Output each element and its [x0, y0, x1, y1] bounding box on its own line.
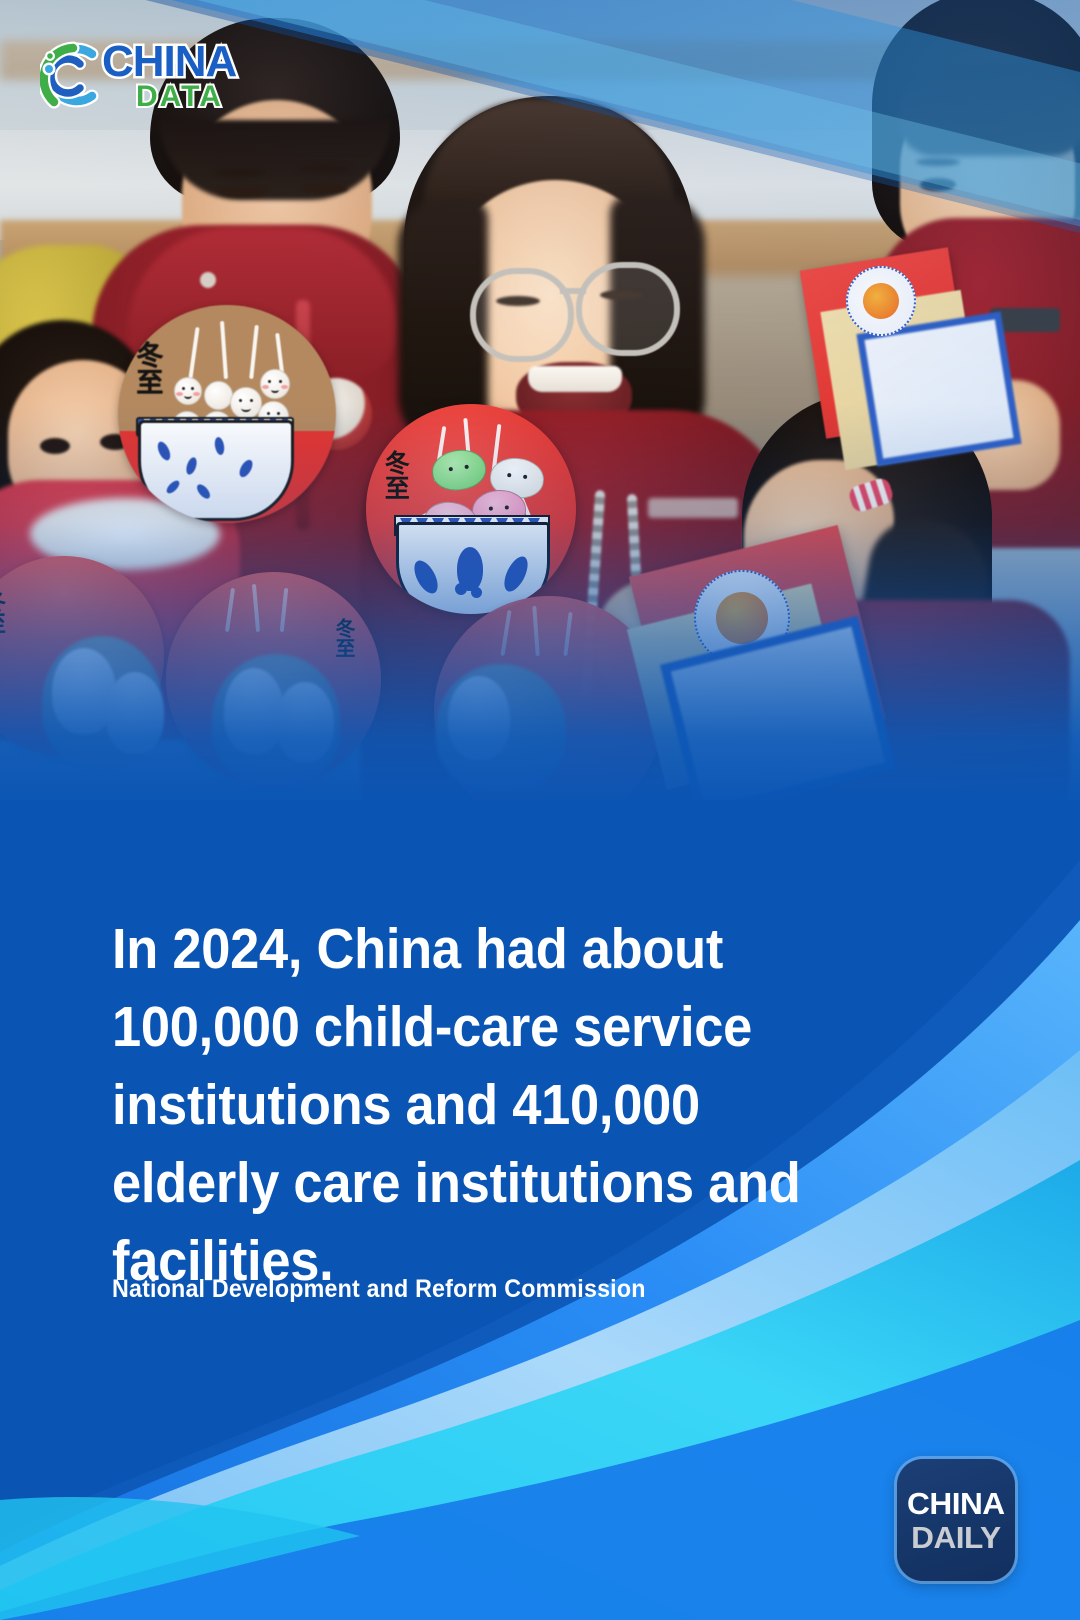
photo-boy-eye-left [218, 186, 266, 197]
craft-porcelain-bowl [138, 420, 294, 521]
craft-fan-characters-left: 冬至 [0, 590, 8, 634]
logo-wordmark: CHINA DATA [102, 40, 236, 112]
photo-boy-eyebrow-left [214, 168, 268, 177]
photo-boy-eyebrow-right [298, 164, 352, 173]
china-daily-line2: DAILY [911, 1522, 1000, 1553]
craft-winter-solstice-characters: 冬至 [132, 341, 160, 395]
photo-boy-snap-button [200, 272, 216, 288]
infographic-poster: 冬至 [0, 0, 1080, 1620]
photo-girl-left-eye-left [40, 438, 70, 454]
photo-girl-topright-eyebrow [916, 158, 960, 166]
photo-craft-paper-dumpling-6 [276, 682, 334, 762]
china-data-logo[interactable]: CHINA DATA [40, 38, 260, 116]
photo-craft-paper-dumpling-3 [106, 672, 164, 754]
china-daily-logo[interactable]: CHINA DAILY [897, 1459, 1015, 1581]
photo-craft-dumpling-circle: 冬至 [366, 404, 576, 614]
photo-teacher-glasses-bridge [560, 288, 586, 294]
craft-winter-solstice-characters-2: 冬至 [382, 450, 408, 500]
photo-teacher-teeth [528, 366, 622, 392]
concentric-arcs-mark [40, 40, 110, 110]
photo-teacher-glasses-left-lens [470, 268, 574, 362]
logo-data-text: DATA [136, 82, 236, 112]
craft-fan-characters-middle: 冬至 [330, 618, 359, 658]
header-photo: 冬至 [0, 0, 1080, 840]
logo-china-text: CHINA [102, 40, 236, 84]
china-daily-line1: CHINA [907, 1488, 1005, 1519]
photo-craft-tangyuan-plate: 冬至 [118, 305, 336, 523]
photo-boy-eye-right [300, 183, 348, 194]
headline-text: In 2024, China had about 100,000 child-c… [112, 910, 857, 1300]
photo-teacher-hoodie-print [648, 498, 738, 518]
photo-girl-topright-fringe [898, 66, 1080, 156]
photo-craft-paper-dumpling-8 [448, 676, 510, 760]
photo-craft-paper-dumpling-5 [224, 668, 284, 754]
source-attribution: National Development and Reform Commissi… [112, 1275, 646, 1304]
photo-girl-topright-eye [920, 178, 956, 191]
photo-teacher-glasses-right-lens [576, 262, 680, 356]
